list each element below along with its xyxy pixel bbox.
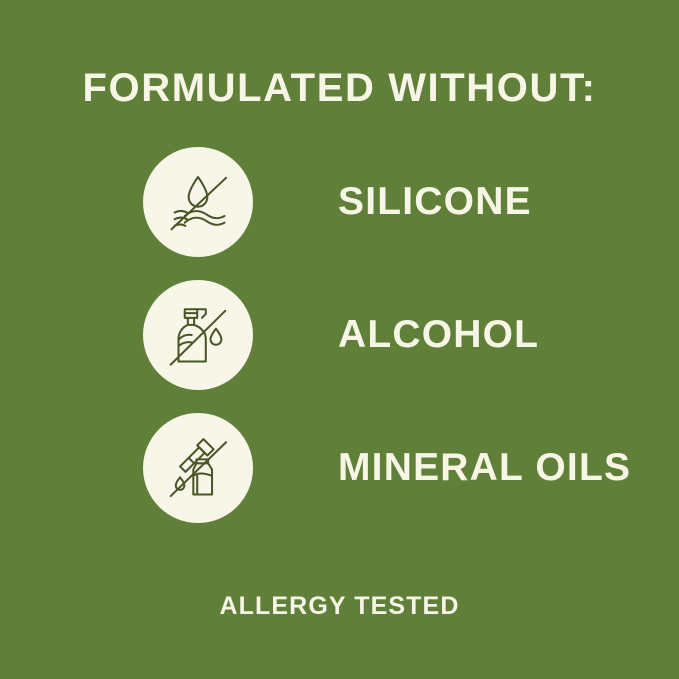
claim-label: MINERAL OILS bbox=[338, 446, 631, 490]
icon-badge bbox=[143, 280, 253, 390]
page-title: FORMULATED WITHOUT: bbox=[0, 64, 679, 112]
claim-row: SILICONE bbox=[143, 147, 603, 257]
allergy-tested-badge: ALLERGY TESTED bbox=[0, 591, 679, 621]
no-mineral-oils-dropper-bottle-icon bbox=[159, 429, 237, 507]
claim-label: ALCOHOL bbox=[338, 313, 539, 357]
icon-badge bbox=[143, 147, 253, 257]
icon-badge bbox=[143, 413, 253, 523]
no-silicone-droplet-waves-icon bbox=[159, 163, 237, 241]
no-alcohol-pump-bottle-icon bbox=[159, 296, 237, 374]
claim-row: MINERAL OILS bbox=[143, 413, 603, 523]
claim-label: SILICONE bbox=[338, 180, 532, 224]
formulated-without-infographic: FORMULATED WITHOUT: SILICO bbox=[0, 0, 679, 679]
claim-row: ALCOHOL bbox=[143, 280, 603, 390]
